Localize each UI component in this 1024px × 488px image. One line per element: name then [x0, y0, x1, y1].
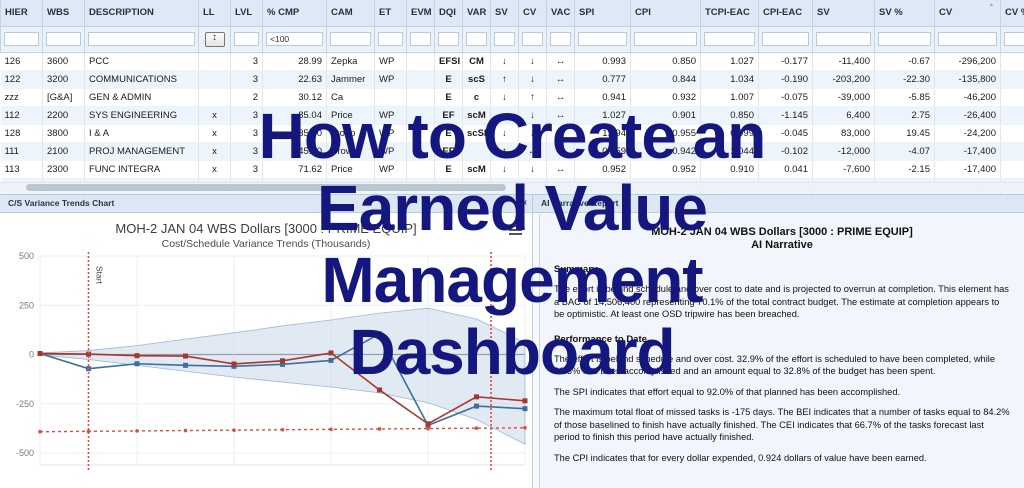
cell-cpi: 0.952 [631, 160, 701, 178]
svg-text:-250: -250 [16, 399, 34, 409]
variance-trends-svg: 5002500-250-500Start [0, 248, 533, 488]
cell-evm [407, 142, 435, 160]
column-header--cmp-5[interactable]: % CMP [263, 0, 327, 26]
filter-sv-18[interactable] [813, 26, 875, 52]
svg-text:0: 0 [29, 350, 34, 360]
chart-plot-area[interactable]: 5002500-250-500Start [0, 248, 533, 488]
cell-desc: SYS ENGINEERING [85, 106, 199, 124]
cell-wbs: [G&A] [43, 88, 85, 106]
cell-pct: 45.70 [263, 142, 327, 160]
cell-cpieac: -0.075 [759, 88, 813, 106]
status-cell-sv: ↔ [491, 106, 519, 124]
cell-et: WP [375, 142, 407, 160]
narrative-heading-1: Performance to Date [554, 334, 1010, 345]
cell-hier: 122 [1, 70, 43, 88]
cell-cpi: 0.932 [631, 88, 701, 106]
cell-cpi: 0.850 [631, 52, 701, 70]
status-cell-sv: ↑ [491, 142, 519, 160]
cell-svp: -22.30 [875, 70, 935, 88]
cell-tcpi: 1.027 [701, 52, 759, 70]
cell-spi: 0.959 [575, 142, 631, 160]
column-header-tcpi-eac-16[interactable]: TCPI-EAC [701, 0, 759, 26]
cell-spi: 1.027 [575, 106, 631, 124]
table-header: HIERWBSDESCRIPTIONLLLVL% CMPCAMETEVMDQIV… [1, 0, 1024, 52]
cell-svd: 83,000 [813, 124, 875, 142]
cell-svd: -39,000 [813, 88, 875, 106]
cell-spi: 0.941 [575, 88, 631, 106]
cell-cam: Brown [327, 142, 375, 160]
narrative-heading-0: Summary [554, 264, 1010, 275]
filter-input-13[interactable] [550, 32, 571, 46]
status-cell-vac: ↔ [547, 70, 575, 88]
status-cell-vac: ↔ [547, 88, 575, 106]
column-header-cam-6[interactable]: CAM [327, 0, 375, 26]
status-cell-vac: ↔ [547, 160, 575, 178]
status-cell-dqi: E [435, 70, 463, 88]
cell-evm [407, 52, 435, 70]
filter-input-19[interactable] [878, 32, 931, 46]
narrative-paragraph-0-0: The effort is behind schedule and over c… [554, 283, 1010, 321]
tab-ai-narrative-report[interactable]: AI Narrative Report [533, 194, 626, 213]
filter-input-7[interactable] [378, 32, 403, 46]
table-body[interactable]: 1263600PCC328.99ZepkaWPEFSICM↓↓↔0.9930.8… [1, 52, 1024, 194]
status-cell-var: scM [463, 106, 491, 124]
filter-sv--19[interactable] [875, 26, 935, 52]
grid-scrollbar-thumb[interactable] [26, 184, 506, 191]
filter-et-7[interactable] [375, 26, 407, 52]
column-header-cv-12[interactable]: CV [519, 0, 547, 26]
cell-lvl: 3 [231, 106, 263, 124]
cell-cam: Price [327, 106, 375, 124]
column-header-cv--21[interactable]: CV % [1001, 0, 1024, 26]
cell-tcpi: 1.007 [701, 88, 759, 106]
cell-desc: PCC [85, 52, 199, 70]
filter-hier-0[interactable] [1, 26, 43, 52]
cell-desc: FUNC INTEGRA [85, 160, 199, 178]
grid-horizontal-scrollbar[interactable] [0, 182, 1024, 191]
cell-hier: 112 [1, 106, 43, 124]
status-cell-sv: ↑ [491, 70, 519, 88]
status-cell-var: c [463, 88, 491, 106]
status-cell-var: CM [463, 52, 491, 70]
cell-et [375, 88, 407, 106]
cell-spi: 0.777 [575, 70, 631, 88]
filter-cam-6[interactable] [327, 26, 375, 52]
filter-input-18[interactable] [816, 32, 871, 46]
cell-cpi: 0.901 [631, 106, 701, 124]
cell-cpieac: -0.190 [759, 70, 813, 88]
cell-svp: -5.85 [875, 88, 935, 106]
cell-svd: -12,000 [813, 142, 875, 160]
status-cell-var [463, 142, 491, 160]
cell-cpi: 0.942 [631, 142, 701, 160]
cell-hier: 126 [1, 52, 43, 70]
filter-description-2[interactable] [85, 26, 199, 52]
cell-cpi: 0.844 [631, 70, 701, 88]
cell-hier: zzz [1, 88, 43, 106]
narrative-paragraph-1-2: The maximum total float of missed tasks … [554, 406, 1010, 444]
cell-cpieac: 0.041 [759, 160, 813, 178]
status-cell-cv: ↓ [519, 160, 547, 178]
svg-text:250: 250 [19, 300, 34, 310]
filter-cv-20[interactable] [935, 26, 1001, 52]
cell-ll [199, 88, 231, 106]
chart-title: MOH-2 JAN 04 WBS Dollars [3000 : PRIME E… [0, 221, 532, 236]
cell-svp: 19.45 [875, 124, 935, 142]
hamburger-menu-icon[interactable] [509, 225, 522, 236]
cell-cvd: -135,800 [935, 70, 1001, 88]
column-header-evm-8[interactable]: EVM [407, 0, 435, 26]
status-cell-cv: ↑ [519, 88, 547, 106]
filter-wbs-1[interactable] [43, 26, 85, 52]
cell-tcpi: 0.850 [701, 106, 759, 124]
double-chevron-left-icon[interactable]: « [521, 197, 527, 208]
cell-svd: -11,400 [813, 52, 875, 70]
column-header-spi-14[interactable]: SPI [575, 0, 631, 26]
filter-evm-8[interactable] [407, 26, 435, 52]
table-row[interactable]: 1132300FUNC INTEGRAx371.62PriceWPEscM↓↓↔… [1, 160, 1024, 178]
cell-lvl: 3 [231, 124, 263, 142]
filter-input-12[interactable] [522, 32, 543, 46]
status-cell-vac: ↔ [547, 142, 575, 160]
filter-cv-12[interactable] [519, 26, 547, 52]
filter-input-17[interactable] [762, 32, 809, 46]
cell-cvp: -6.16 [1001, 142, 1024, 160]
column-header-et-7[interactable]: ET [375, 0, 407, 26]
column-header-ll-3[interactable]: LL [199, 0, 231, 26]
cell-ll: x [199, 106, 231, 124]
table-row[interactable]: 1223200COMMUNICATIONS322.63JammerWPEscS↑… [1, 70, 1024, 88]
chart-panel[interactable]: C/S Variance Trends Chart « MOH-2 JAN 04… [0, 194, 533, 488]
column-header-vac-13[interactable]: VAC [547, 0, 575, 26]
column-header-sv-11[interactable]: SV [491, 0, 519, 26]
cell-evm [407, 124, 435, 142]
status-cell-vac: ↔ [547, 52, 575, 70]
cell-ll [199, 52, 231, 70]
cell-cvd: -296,200 [935, 52, 1001, 70]
narrative-paragraph-1-1: The SPI indicates that effort equal to 9… [554, 386, 1010, 399]
status-cell-var: scS [463, 70, 491, 88]
cell-evm [407, 70, 435, 88]
filter--cmp-5[interactable]: <100 [263, 26, 327, 52]
cell-cpieac: -0.045 [759, 124, 813, 142]
table-row[interactable]: 1112100PROJ MANAGEMENTx345.70BrownWPEF↑↔… [1, 142, 1024, 160]
column-header-hier-0[interactable]: HIER [1, 0, 43, 26]
status-cell-sv: ↓ [491, 160, 519, 178]
filter-input-0[interactable] [4, 32, 39, 46]
cell-wbs: 2300 [43, 160, 85, 178]
cell-cvp: -5.03 [1001, 160, 1024, 178]
filter-dqi-9[interactable] [435, 26, 463, 52]
cell-ll: x [199, 142, 231, 160]
cell-et: WP [375, 124, 407, 142]
cell-cvd: -17,400 [935, 142, 1001, 160]
bottom-split-container: C/S Variance Trends Chart « MOH-2 JAN 04… [0, 194, 1024, 488]
cell-spi: 0.993 [575, 52, 631, 70]
column-header-dqi-9[interactable]: DQI [435, 0, 463, 26]
filter-cpi-15[interactable] [631, 26, 701, 52]
cell-et: WP [375, 160, 407, 178]
chart-title-block: MOH-2 JAN 04 WBS Dollars [3000 : PRIME E… [0, 213, 532, 250]
cell-tcpi: 0.999 [701, 124, 759, 142]
status-cell-cv: ↓ [519, 70, 547, 88]
cell-wbs: 3800 [43, 124, 85, 142]
cell-pct: 85.04 [263, 106, 327, 124]
evm-data-grid-panel[interactable]: HIERWBSDESCRIPTIONLLLVL% CMPCAMETEVMDQIV… [0, 0, 1024, 194]
cell-wbs: 2100 [43, 142, 85, 160]
column-header-var-10[interactable]: VAR [463, 0, 491, 26]
column-header-lvl-4[interactable]: LVL [231, 0, 263, 26]
filter-sv-11[interactable] [491, 26, 519, 52]
cell-svp: -4.07 [875, 142, 935, 160]
status-cell-dqi: EFSI [435, 52, 463, 70]
status-cell-dqi: EF [435, 142, 463, 160]
cell-desc: COMMUNICATIONS [85, 70, 199, 88]
cell-cvd: -46,200 [935, 88, 1001, 106]
filter-vac-13[interactable] [547, 26, 575, 52]
narrative-body[interactable]: MOH-2 JAN 04 WBS Dollars [3000 : PRIME E… [539, 214, 1024, 488]
cell-desc: I & A [85, 124, 199, 142]
status-cell-cv: ↔ [519, 142, 547, 160]
cell-lvl: 3 [231, 142, 263, 160]
status-cell-var: scM [463, 160, 491, 178]
narrative-subtitle: AI Narrative [554, 239, 1010, 251]
status-cell-dqi: E [435, 88, 463, 106]
cell-spi: 1.194 [575, 124, 631, 142]
column-header-cv-20[interactable]: CV [935, 0, 1001, 26]
cell-ll: x [199, 160, 231, 178]
table-row[interactable]: 1122200SYS ENGINEERINGx385.04PriceWPEFsc… [1, 106, 1024, 124]
svg-text:-500: -500 [16, 448, 34, 458]
narrative-paragraph-1-3: The CPI indicates that for every dollar … [554, 452, 1010, 465]
ai-narrative-panel[interactable]: AI Narrative Report MOH-2 JAN 04 WBS Dol… [533, 194, 1024, 488]
narrative-sections: SummaryThe effort is behind schedule and… [554, 264, 1010, 464]
cell-desc: PROJ MANAGEMENT [85, 142, 199, 160]
status-cell-vac: ↔ [547, 106, 575, 124]
filter-input-8[interactable] [410, 32, 431, 46]
cell-cvd: -24,200 [935, 124, 1001, 142]
cell-wbs: 2200 [43, 106, 85, 124]
cell-cvp: -7.26 [1001, 88, 1024, 106]
cell-pct: 28.99 [263, 52, 327, 70]
column-header-cpi-15[interactable]: CPI [631, 0, 701, 26]
cell-desc: GEN & ADMIN [85, 88, 199, 106]
cell-spi: 0.952 [575, 160, 631, 178]
cell-cvd: -26,400 [935, 106, 1001, 124]
cell-pct: 35.40 [263, 124, 327, 142]
cell-lvl: 3 [231, 70, 263, 88]
filter-input-9[interactable] [438, 32, 459, 46]
filter-input-1[interactable] [46, 32, 81, 46]
cell-hier: 111 [1, 142, 43, 160]
cell-cam: Zepka [327, 52, 375, 70]
cell-cam: Ca [327, 88, 375, 106]
cell-tcpi: 1.044 [701, 142, 759, 160]
filter-input-16[interactable] [704, 32, 755, 46]
status-cell-sv: ↓ [491, 52, 519, 70]
filter-spi-14[interactable] [575, 26, 631, 52]
status-cell-cv: ↓ [519, 106, 547, 124]
cell-cam: Troop [327, 124, 375, 142]
filter-ll-spinner[interactable] [199, 26, 231, 52]
cell-wbs: 3200 [43, 70, 85, 88]
cell-evm [407, 88, 435, 106]
filter-input-20[interactable] [938, 32, 997, 46]
filter-input-2[interactable] [88, 32, 195, 46]
filter-input-21[interactable] [1004, 32, 1024, 46]
cell-svd: 6,400 [813, 106, 875, 124]
filter-tcpi-eac-16[interactable] [701, 26, 759, 52]
cell-cpieac: -0.177 [759, 52, 813, 70]
filter-input-14[interactable] [578, 32, 627, 46]
filter-input-15[interactable] [634, 32, 697, 46]
cell-wbs: 3600 [43, 52, 85, 70]
status-cell-dqi: E [435, 160, 463, 178]
column-header-cpi-eac-17[interactable]: CPI-EAC [759, 0, 813, 26]
cell-et: WP [375, 70, 407, 88]
status-cell-sv: ↓ [491, 124, 519, 142]
column-header-sv-18[interactable]: SV [813, 0, 875, 26]
cell-svp: 2.75 [875, 106, 935, 124]
narrative-panel-tabbar[interactable]: AI Narrative Report [533, 194, 1024, 213]
table-row[interactable]: zzz[G&A]GEN & ADMIN230.12CaEc↓↑↔0.9410.9… [1, 88, 1024, 106]
cell-evm [407, 160, 435, 178]
evm-data-table[interactable]: HIERWBSDESCRIPTIONLLLVL% CMPCAMETEVMDQIV… [0, 0, 1024, 194]
svg-text:Start: Start [95, 266, 105, 285]
status-cell-cv: ↓ [519, 52, 547, 70]
ll-spinner-icon[interactable] [205, 32, 225, 47]
cell-ll: x [199, 124, 231, 142]
cell-cvp: -17.62 [1001, 52, 1024, 70]
table-header-row[interactable]: HIERWBSDESCRIPTIONLLLVL% CMPCAMETEVMDQIV… [1, 0, 1024, 26]
cell-svd: -7,600 [813, 160, 875, 178]
tab-cs-variance-trends-chart[interactable]: C/S Variance Trends Chart [0, 194, 122, 213]
cell-cpi: 0.955 [631, 124, 701, 142]
cell-cvp: -10.95 [1001, 106, 1024, 124]
narrative-title: MOH-2 JAN 04 WBS Dollars [3000 : PRIME E… [554, 226, 1010, 238]
status-cell-dqi: E [435, 124, 463, 142]
cell-cvp: -4.75 [1001, 124, 1024, 142]
cell-tcpi: 1.034 [701, 70, 759, 88]
table-row[interactable]: 1263600PCC328.99ZepkaWPEFSICM↓↓↔0.9930.8… [1, 52, 1024, 70]
narrative-paragraph-1-0: The effort is behind schedule and over c… [554, 353, 1010, 378]
cell-cvd: -17,400 [935, 160, 1001, 178]
cell-cpieac: -1.145 [759, 106, 813, 124]
filter-cpi-eac-17[interactable] [759, 26, 813, 52]
cell-cvp: -18.49 [1001, 70, 1024, 88]
table-filter-row[interactable]: <100 [1, 26, 1024, 52]
filter-input-5[interactable]: <100 [266, 32, 323, 46]
filter-var-10[interactable] [463, 26, 491, 52]
cell-svp: -2.15 [875, 160, 935, 178]
column-header-sv--19[interactable]: SV % [875, 0, 935, 26]
cell-lvl: 3 [231, 52, 263, 70]
cell-pct: 30.12 [263, 88, 327, 106]
svg-text:500: 500 [19, 251, 34, 261]
filter-lvl-4[interactable] [231, 26, 263, 52]
filter-input-11[interactable] [494, 32, 515, 46]
status-cell-dqi: EF [435, 106, 463, 124]
status-cell-var: scSM [463, 124, 491, 142]
cell-svp: -0.67 [875, 52, 935, 70]
cell-evm [407, 106, 435, 124]
cell-hier: 113 [1, 160, 43, 178]
cell-lvl: 3 [231, 160, 263, 178]
cell-et: WP [375, 106, 407, 124]
cell-tcpi: 0.910 [701, 160, 759, 178]
cell-cam: Jammer [327, 70, 375, 88]
status-cell-vac: ↔ [547, 124, 575, 142]
table-row[interactable]: 1283800I & Ax335.40TroopWPEscSM↓↓↔1.1940… [1, 124, 1024, 142]
cell-cam: Price [327, 160, 375, 178]
filter-input-6[interactable] [330, 32, 371, 46]
column-header-wbs-1[interactable]: WBS [43, 0, 85, 26]
cell-svd: -203,200 [813, 70, 875, 88]
filter-input-4[interactable] [234, 32, 259, 46]
filter-cv--21[interactable] [1001, 26, 1024, 52]
filter-input-10[interactable] [466, 32, 487, 46]
cell-pct: 22.63 [263, 70, 327, 88]
column-header-description-2[interactable]: DESCRIPTION [85, 0, 199, 26]
cell-pct: 71.62 [263, 160, 327, 178]
chart-panel-tabbar[interactable]: C/S Variance Trends Chart « [0, 194, 532, 213]
cell-cpieac: -0.102 [759, 142, 813, 160]
status-cell-cv: ↓ [519, 124, 547, 142]
cell-lvl: 2 [231, 88, 263, 106]
cell-hier: 128 [1, 124, 43, 142]
cell-et: WP [375, 52, 407, 70]
cell-ll [199, 70, 231, 88]
status-cell-sv: ↓ [491, 88, 519, 106]
